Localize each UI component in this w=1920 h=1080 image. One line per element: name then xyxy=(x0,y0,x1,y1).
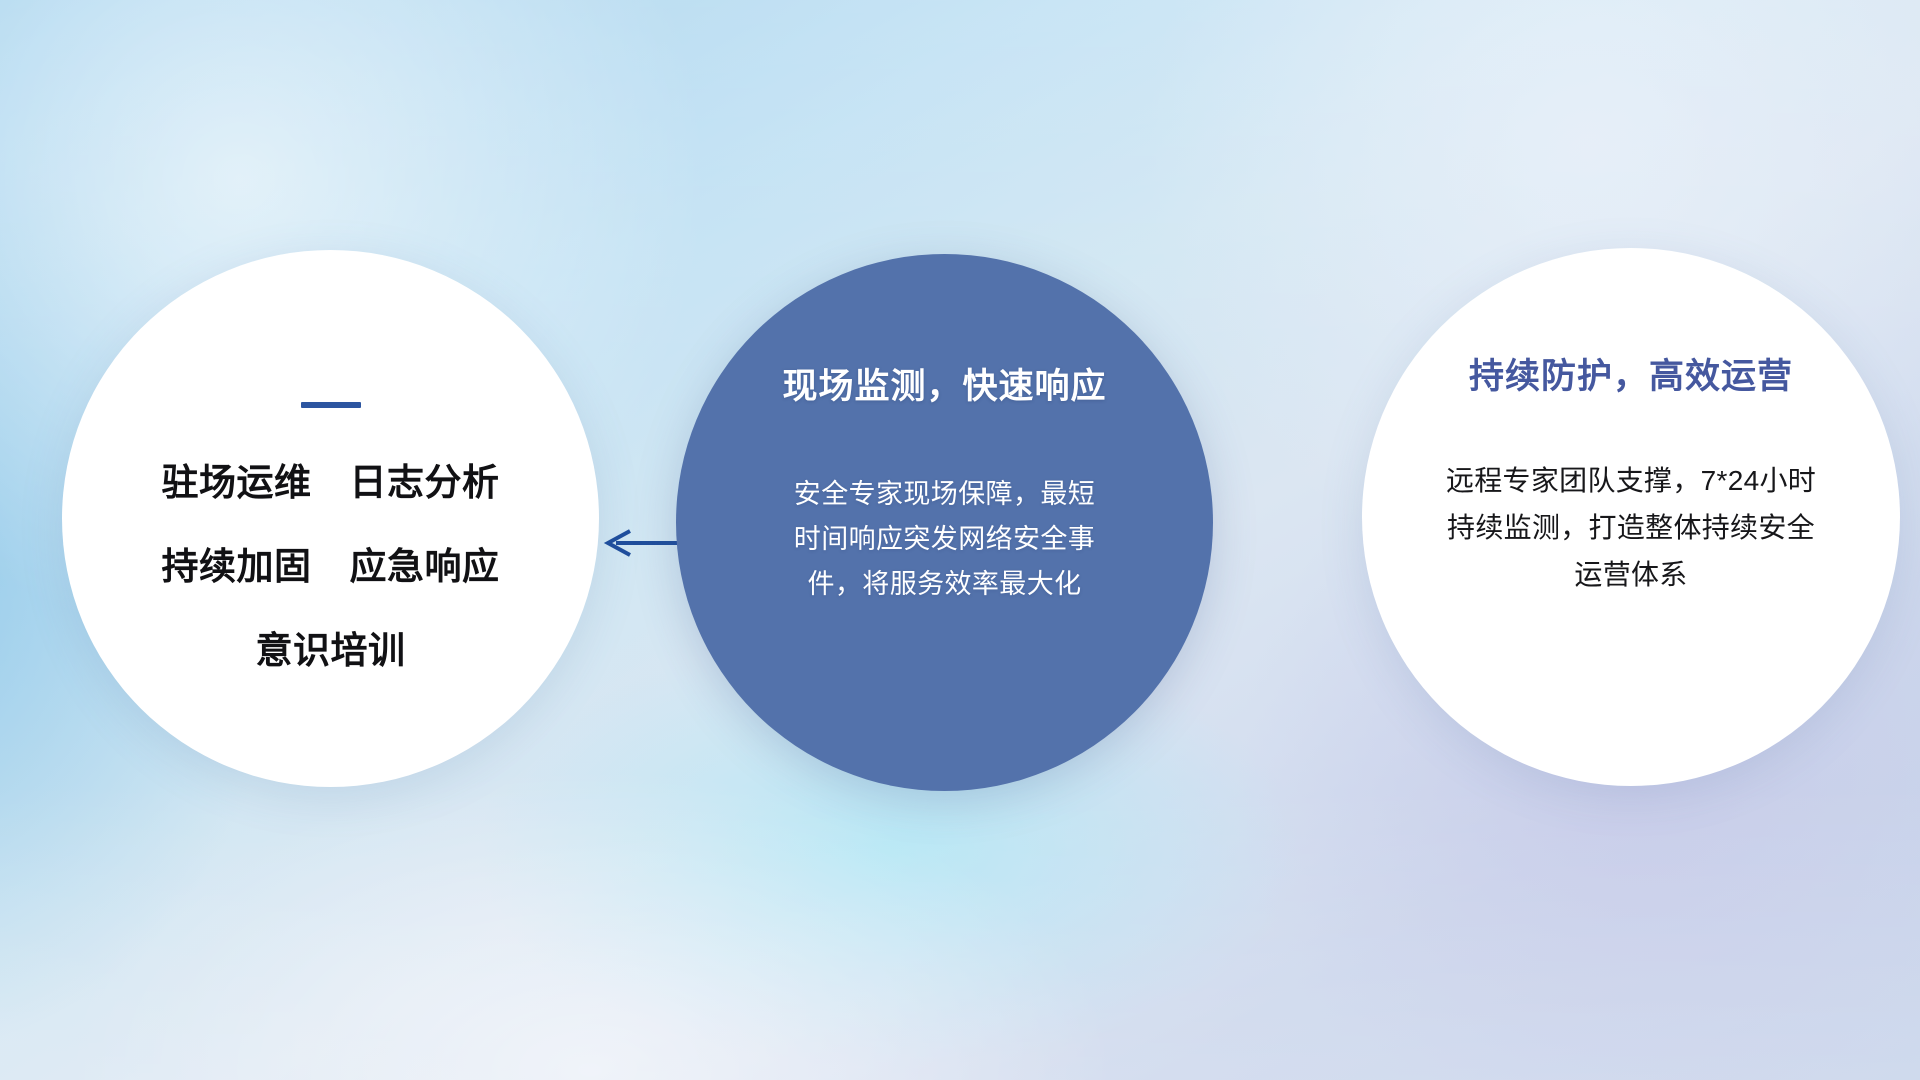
capability-keyword: 应急响应 xyxy=(350,536,500,590)
capabilities-keyword-row: 持续加固 应急响应 xyxy=(162,536,500,590)
capabilities-circle-card[interactable]: 驻场运维 日志分析 持续加固 应急响应 意识培训 xyxy=(62,250,599,787)
onsite-monitoring-circle-card[interactable]: 现场监测，快速响应 安全专家现场保障，最短时间响应突发网络安全事件，将服务效率最… xyxy=(676,254,1213,791)
capabilities-keyword-list: 驻场运维 日志分析 持续加固 应急响应 意识培训 xyxy=(162,452,500,674)
onsite-card-body: 安全专家现场保障，最短时间响应突发网络安全事件，将服务效率最大化 xyxy=(785,472,1105,607)
capability-keyword: 日志分析 xyxy=(350,452,500,506)
capabilities-keyword-row: 驻场运维 日志分析 xyxy=(162,452,500,506)
capability-keyword: 意识培训 xyxy=(256,620,406,674)
continuous-card-body: 远程专家团队支撑，7*24小时持续监测，打造整体持续安全运营体系 xyxy=(1440,457,1822,598)
onsite-card-title: 现场监测，快速响应 xyxy=(782,358,1106,409)
capability-keyword: 持续加固 xyxy=(162,536,312,590)
horizontal-dash-icon xyxy=(301,402,361,408)
capability-keyword: 驻场运维 xyxy=(162,452,312,506)
continuous-card-title: 持续防护，高效运营 xyxy=(1469,348,1793,399)
capabilities-keyword-row: 意识培训 xyxy=(256,620,406,674)
continuous-protection-circle-card[interactable]: 持续防护，高效运营 远程专家团队支撑，7*24小时持续监测，打造整体持续安全运营… xyxy=(1362,248,1900,786)
